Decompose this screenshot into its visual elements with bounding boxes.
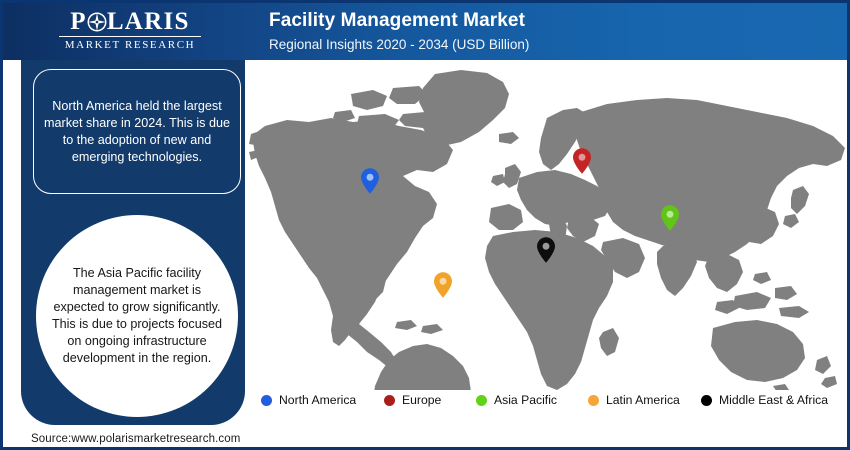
page-subtitle: Regional Insights 2020 - 2034 (USD Billi… (269, 37, 529, 52)
world-map (247, 60, 847, 390)
map-legend: North America Europe Asia Pacific Latin … (261, 393, 841, 413)
legend-label: Asia Pacific (494, 393, 557, 407)
legend-dot-icon (476, 395, 487, 406)
logo-wordmark: PLARIS (70, 9, 190, 35)
logo-divider (59, 36, 201, 37)
north-america-callout-text: North America held the largest market sh… (44, 98, 230, 166)
legend-dot-icon (384, 395, 395, 406)
legend-item-europe[interactable]: Europe (384, 393, 441, 407)
map-pin-latin-america[interactable] (434, 272, 452, 298)
asia-pacific-callout: The Asia Pacific facility management mar… (36, 215, 238, 417)
legend-label: Europe (402, 393, 441, 407)
legend-label: North America (279, 393, 356, 407)
legend-dot-icon (588, 395, 599, 406)
source-attribution: Source:www.polarismarketresearch.com (31, 433, 240, 445)
map-pin-asia-pacific[interactable] (661, 205, 679, 231)
map-pin-europe[interactable] (573, 148, 591, 174)
legend-item-latin-america[interactable]: Latin America (588, 393, 680, 407)
legend-item-north-america[interactable]: North America (261, 393, 356, 407)
logo-tagline: MARKET RESEARCH (55, 39, 205, 51)
legend-label: Latin America (606, 393, 680, 407)
polaris-logo: PLARIS MARKET RESEARCH (55, 9, 205, 55)
legend-dot-icon (701, 395, 712, 406)
compass-star-icon (87, 12, 107, 32)
north-america-callout: North America held the largest market sh… (33, 69, 241, 194)
world-map-svg (247, 60, 847, 390)
asia-pacific-callout-text: The Asia Pacific facility management mar… (50, 265, 224, 367)
legend-item-asia-pacific[interactable]: Asia Pacific (476, 393, 557, 407)
legend-item-middle-east-africa[interactable]: Middle East & Africa (701, 393, 828, 407)
logo-word-part2: LARIS (107, 8, 190, 35)
map-pin-middle-east-africa[interactable] (537, 237, 555, 263)
map-pin-north-america[interactable] (361, 168, 379, 194)
legend-label: Middle East & Africa (719, 393, 828, 407)
infographic-root: Facility Management Market Regional Insi… (0, 0, 850, 450)
legend-dot-icon (261, 395, 272, 406)
header-bar: Facility Management Market Regional Insi… (3, 3, 847, 60)
logo-word-part1: P (70, 8, 87, 35)
page-title: Facility Management Market (269, 10, 525, 32)
